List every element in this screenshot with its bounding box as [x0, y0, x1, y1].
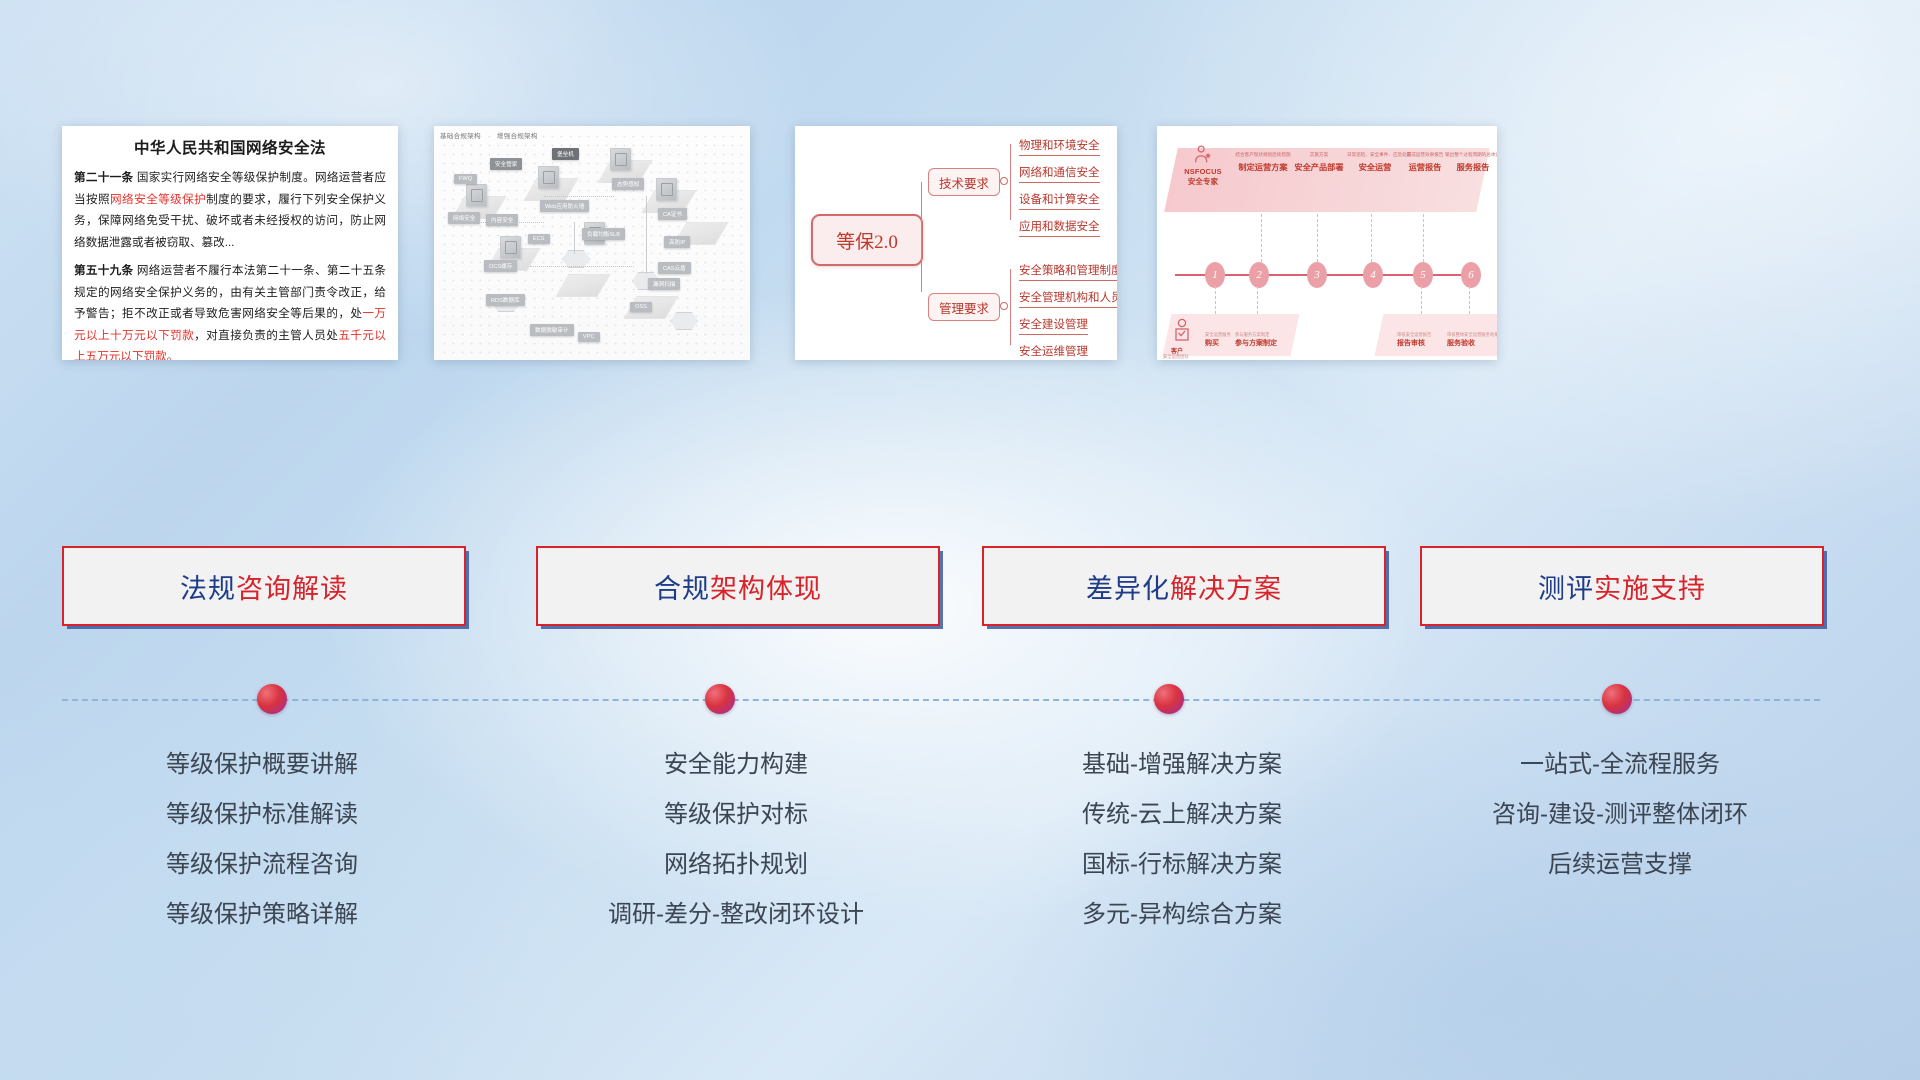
- list-item: 等级保护概要讲解: [52, 740, 472, 790]
- list-item: 一站式-全流程服务: [1410, 740, 1830, 790]
- list-item: 咨询-建设-测评整体闭环: [1410, 790, 1830, 840]
- headline-box-assessment[interactable]: 测评实施支持: [1420, 546, 1824, 626]
- timeline-marker-4[interactable]: [1602, 684, 1632, 714]
- headline-blue-part: 测评: [1538, 574, 1594, 604]
- headline-blue-part: 合规: [654, 574, 710, 604]
- headline-red-part: 架构体现: [710, 574, 822, 604]
- headline-blue-part: 法规: [180, 574, 236, 604]
- headline-red-part: 实施支持: [1594, 574, 1706, 604]
- list-item: 多元-异构综合方案: [972, 890, 1392, 940]
- detail-column-assessment: 一站式-全流程服务 咨询-建设-测评整体闭环 后续运营支撑: [1410, 740, 1830, 890]
- headline-box-solution[interactable]: 差异化解决方案: [982, 546, 1386, 626]
- timeline-marker-2[interactable]: [705, 684, 735, 714]
- headline-red-part: 解决方案: [1170, 574, 1282, 604]
- list-item: 安全能力构建: [526, 740, 946, 790]
- detail-column-architecture: 安全能力构建 等级保护对标 网络拓扑规划 调研-差分-整改闭环设计: [526, 740, 946, 940]
- poster-canvas: 中华人民共和国网络安全法 第二十一条 国家实行网络安全等级保护制度。网络运营者应…: [0, 0, 1920, 1080]
- detail-column-solution: 基础-增强解决方案 传统-云上解决方案 国标-行标解决方案 多元-异构综合方案: [972, 740, 1392, 940]
- list-item: 网络拓扑规划: [526, 840, 946, 890]
- list-item: 国标-行标解决方案: [972, 840, 1392, 890]
- timeline-marker-1[interactable]: [257, 684, 287, 714]
- list-item: 后续运营支撑: [1410, 840, 1830, 890]
- timeline-marker-3[interactable]: [1154, 684, 1184, 714]
- headline-box-regulation[interactable]: 法规咨询解读: [62, 546, 466, 626]
- headline-box-architecture[interactable]: 合规架构体现: [536, 546, 940, 626]
- timeline-dashed-line: [62, 699, 1820, 701]
- list-item: 等级保护对标: [526, 790, 946, 840]
- headline-text: 测评实施支持: [1538, 567, 1706, 606]
- headline-blue-part: 差异化: [1086, 574, 1170, 604]
- list-item: 等级保护流程咨询: [52, 840, 472, 890]
- list-item: 传统-云上解决方案: [972, 790, 1392, 840]
- detail-column-regulation: 等级保护概要讲解 等级保护标准解读 等级保护流程咨询 等级保护策略详解: [52, 740, 472, 940]
- headline-red-part: 咨询解读: [236, 574, 348, 604]
- list-item: 等级保护策略详解: [52, 890, 472, 940]
- headline-text: 法规咨询解读: [180, 567, 348, 606]
- list-item: 基础-增强解决方案: [972, 740, 1392, 790]
- list-item: 调研-差分-整改闭环设计: [526, 890, 946, 940]
- headline-text: 合规架构体现: [654, 567, 822, 606]
- headline-text: 差异化解决方案: [1086, 567, 1282, 606]
- list-item: 等级保护标准解读: [52, 790, 472, 840]
